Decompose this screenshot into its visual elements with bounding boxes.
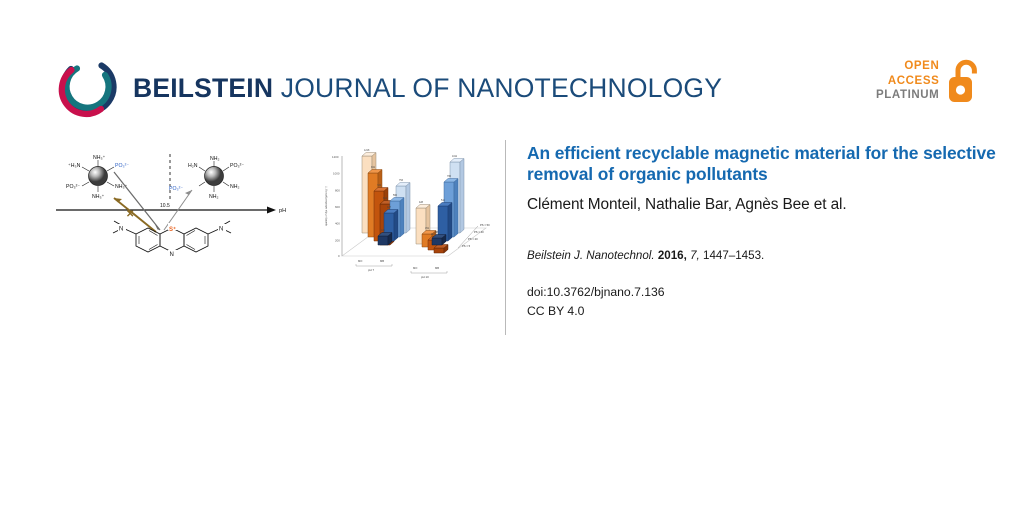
svg-text:941: 941 <box>371 166 376 169</box>
citation-journal: Beilstein J. Nanotechnol. <box>527 249 655 262</box>
open-access-line-platinum: PLATINUM <box>876 88 939 103</box>
svg-text:795: 795 <box>447 175 452 178</box>
graphical-abstract-scheme: pH 10.5 NH₃⁺ ⁺H₃N <box>52 150 292 280</box>
svg-text:101: 101 <box>381 229 386 232</box>
svg-text:753: 753 <box>399 179 404 182</box>
left-nanoparticle: NH₃⁺ ⁺H₃N PO₃²⁻ PO₃²⁻ NH₃⁺ NH₃⁺ <box>66 155 129 200</box>
ph-axis-marker: 10.5 <box>160 203 170 209</box>
svg-text:MO: MO <box>358 259 362 263</box>
left-np-label-nh3-top: NH₃⁺ <box>93 155 106 161</box>
molecule-n-left-label: N <box>119 227 123 233</box>
molecule-nitrogen-label: N <box>170 252 174 258</box>
open-access-line-access: ACCESS <box>888 74 940 89</box>
svg-text:PS = 20: PS = 20 <box>468 237 478 241</box>
page-header: BEILSTEIN JOURNAL OF NANOTECHNOLOGY OPEN… <box>0 0 1024 140</box>
svg-text:1218: 1218 <box>364 149 370 152</box>
chart-y-axis-title: quantity of dye adsorbed (µmol·g⁻¹) <box>325 186 328 226</box>
journal-logo[interactable]: BEILSTEIN JOURNAL OF NANOTECHNOLOGY <box>55 57 722 119</box>
svg-text:200: 200 <box>335 238 340 242</box>
svg-text:427: 427 <box>387 206 392 209</box>
svg-text:pH 7: pH 7 <box>368 268 374 272</box>
article-title: An efficient recyclable magnetic materia… <box>527 143 1002 186</box>
citation-volume: 7, <box>690 249 700 262</box>
svg-text:MB: MB <box>380 259 384 263</box>
chart-x-labels: MO MB pH 7 MO MB pH 10 <box>356 259 447 279</box>
graphical-abstract-chart: 1200 1000 800 600 400 200 0 quantity of … <box>318 148 513 283</box>
svg-text:566: 566 <box>393 194 398 197</box>
svg-text:400: 400 <box>335 222 340 226</box>
dye-adsorption-3d-bar-chart: 1200 1000 800 600 400 200 0 quantity of … <box>318 148 513 283</box>
svg-text:0: 0 <box>338 254 340 258</box>
left-np-label-nh3-bottom: NH₃⁺ <box>92 194 105 200</box>
svg-text:MB: MB <box>435 266 439 270</box>
right-np-label-po3-right: PO₃²⁻ <box>230 163 244 169</box>
molecule-n-right-label: N <box>219 227 223 233</box>
svg-text:pH 10: pH 10 <box>421 275 429 279</box>
journal-logo-text: BEILSTEIN JOURNAL OF NANOTECHNOLOGY <box>133 75 722 102</box>
svg-text:600: 600 <box>335 205 340 209</box>
brand-light: JOURNAL OF NANOTECHNOLOGY <box>273 73 722 103</box>
right-nanoparticle: NH₂ H₂N PO₃²⁻ PO₃²⁻ NH₂ NH₂ <box>169 156 244 200</box>
article-doi[interactable]: doi:10.3762/bjnano.7.136 <box>527 283 1002 301</box>
right-np-label-nh2-right: NH₂ <box>230 184 240 190</box>
molecule-sulfur-label: S⁺ <box>169 226 176 233</box>
ph-adsorption-diagram: pH 10.5 NH₃⁺ ⁺H₃N <box>52 150 292 280</box>
svg-text:614: 614 <box>383 197 388 200</box>
beilstein-ring-logo-icon <box>55 57 117 119</box>
no-binding-x-marker: ✕ <box>126 209 134 220</box>
right-np-label-nh2-top: NH₂ <box>210 156 220 162</box>
article-info: An efficient recyclable magnetic materia… <box>527 143 1002 320</box>
chart-y-ticks: 1200 1000 800 600 400 200 0 <box>332 155 340 258</box>
left-np-label-po3-right: PO₃²⁻ <box>115 163 129 169</box>
right-np-label-po3-left: PO₃²⁻ <box>169 186 183 192</box>
open-lock-icon <box>946 58 980 104</box>
svg-text:1200: 1200 <box>332 155 339 159</box>
citation-year: 2016, <box>658 249 687 262</box>
right-np-label-nh2-bottom: NH₂ <box>209 194 219 200</box>
svg-text:PS = 40: PS = 40 <box>474 230 484 234</box>
article-license[interactable]: CC BY 4.0 <box>527 302 1002 320</box>
svg-text:MO: MO <box>413 266 417 270</box>
open-access-badge[interactable]: OPEN ACCESS PLATINUM <box>876 58 980 104</box>
left-np-label-po3-left: PO₃²⁻ <box>66 184 80 190</box>
open-access-words: OPEN ACCESS PLATINUM <box>876 59 939 103</box>
svg-text:PS = 50: PS = 50 <box>480 223 490 227</box>
interaction-arrows: ✕ <box>114 172 192 232</box>
chart-bar-group-mb-ph10: 1011 795 511 88 <box>432 155 464 245</box>
citation-pages: 1447–1453. <box>703 249 764 262</box>
svg-text:428: 428 <box>419 201 424 204</box>
methylene-blue-molecule: S⁺ N N N <box>113 221 231 258</box>
ph-axis-label: pH <box>279 208 286 214</box>
left-np-label-nh3-left: ⁺H₃N <box>68 163 81 169</box>
svg-text:1011: 1011 <box>452 155 458 158</box>
svg-text:722: 722 <box>377 184 382 187</box>
svg-text:151: 151 <box>425 227 430 230</box>
svg-text:511: 511 <box>441 199 445 202</box>
article-citation: Beilstein J. Nanotechnol. 2016, 7, 1447–… <box>527 248 1002 264</box>
svg-text:PS = 5: PS = 5 <box>462 244 471 248</box>
open-access-line-open: OPEN <box>904 59 939 74</box>
article-authors: Clément Monteil, Nathalie Bar, Agnès Bee… <box>527 195 1002 214</box>
right-np-label-nh2-left: H₂N <box>188 163 198 169</box>
brand-bold: BEILSTEIN <box>133 73 273 103</box>
svg-text:1000: 1000 <box>333 172 340 176</box>
svg-text:800: 800 <box>335 188 340 192</box>
